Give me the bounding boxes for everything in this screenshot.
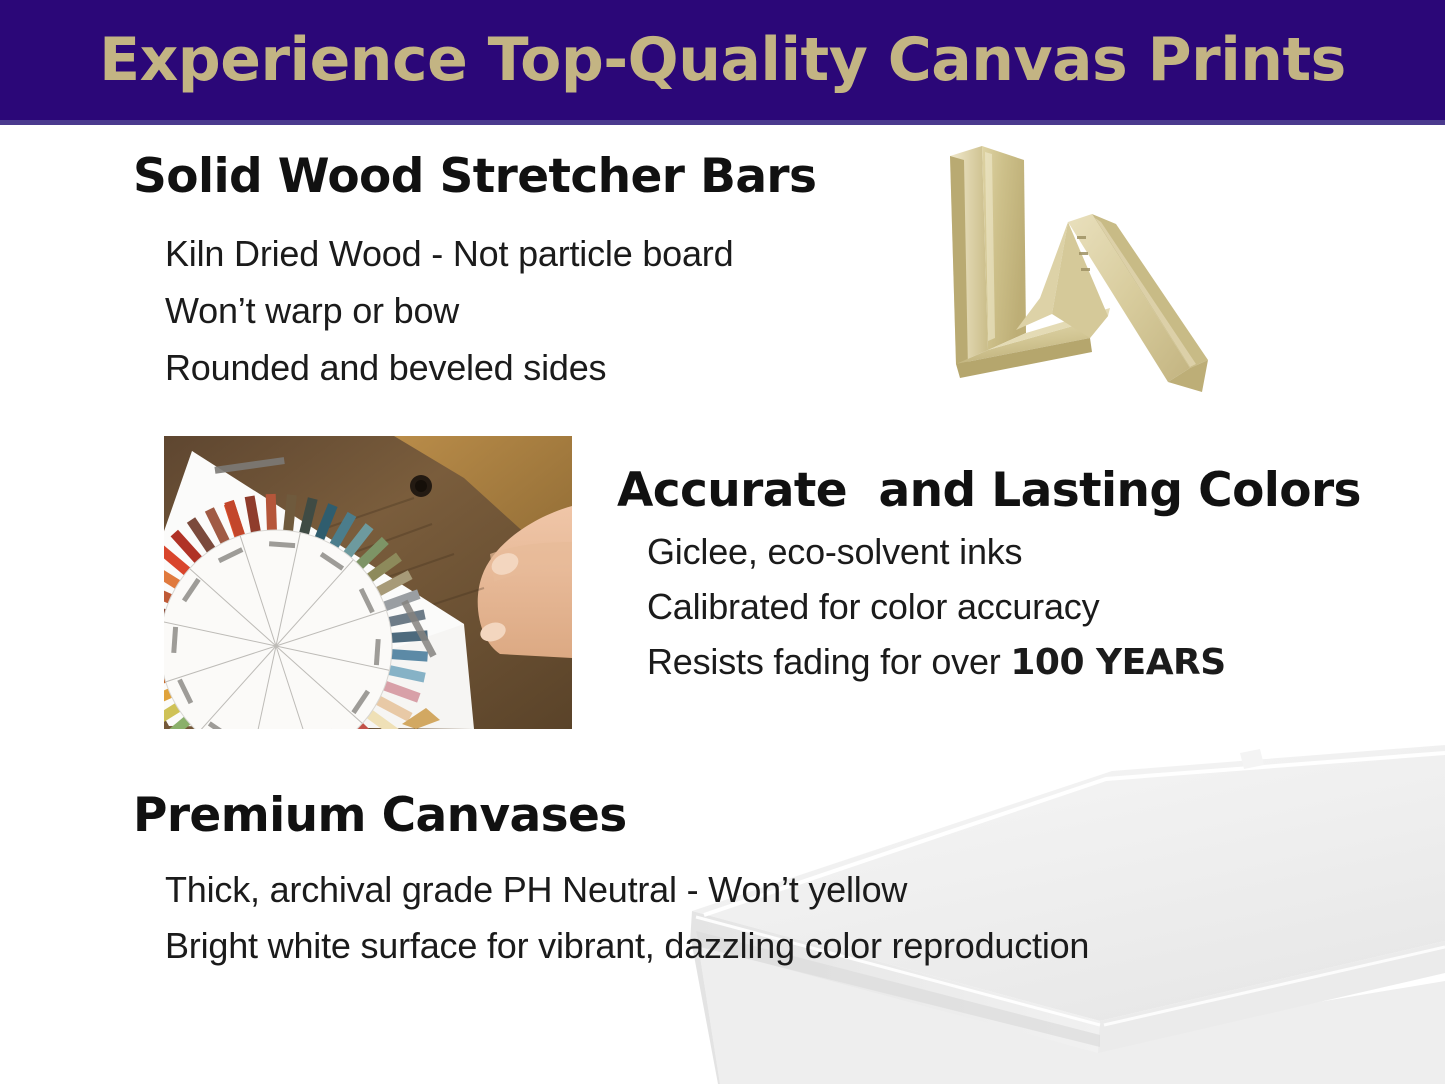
- bullet-giclee-eco-solvent-inks: Giclee, eco-solvent inks: [647, 534, 1022, 570]
- bullet-thick-archival-grade-ph-neutral: Thick, archival grade PH Neutral - Won’t…: [165, 872, 907, 908]
- bullet-resists-fading: Resists fading for over 100 YEARS: [647, 644, 1226, 681]
- section-heading-solid-wood-stretcher-bars: Solid Wood Stretcher Bars: [133, 152, 816, 201]
- bullet-calibrated-for-color-accuracy: Calibrated for color accuracy: [647, 589, 1099, 625]
- bullet-resists-fading-prefix: Resists fading for over: [647, 641, 1010, 682]
- promo-graphic: Experience Top-Quality Canvas Prints: [0, 0, 1445, 1084]
- section-heading-accurate-and-lasting-colors: Accurate and Lasting Colors: [617, 466, 1361, 515]
- section-heading-premium-canvases: Premium Canvases: [133, 791, 627, 840]
- bullet-rounded-and-beveled-sides: Rounded and beveled sides: [165, 350, 606, 386]
- content-text-layer: Solid Wood Stretcher Bars Kiln Dried Woo…: [0, 0, 1445, 1084]
- bullet-kiln-dried-wood: Kiln Dried Wood - Not particle board: [165, 236, 733, 272]
- bullet-wont-warp-or-bow: Won’t warp or bow: [165, 293, 459, 329]
- bullet-resists-fading-emphasis: 100 YEARS: [1010, 642, 1225, 683]
- bullet-bright-white-surface: Bright white surface for vibrant, dazzli…: [165, 928, 1089, 964]
